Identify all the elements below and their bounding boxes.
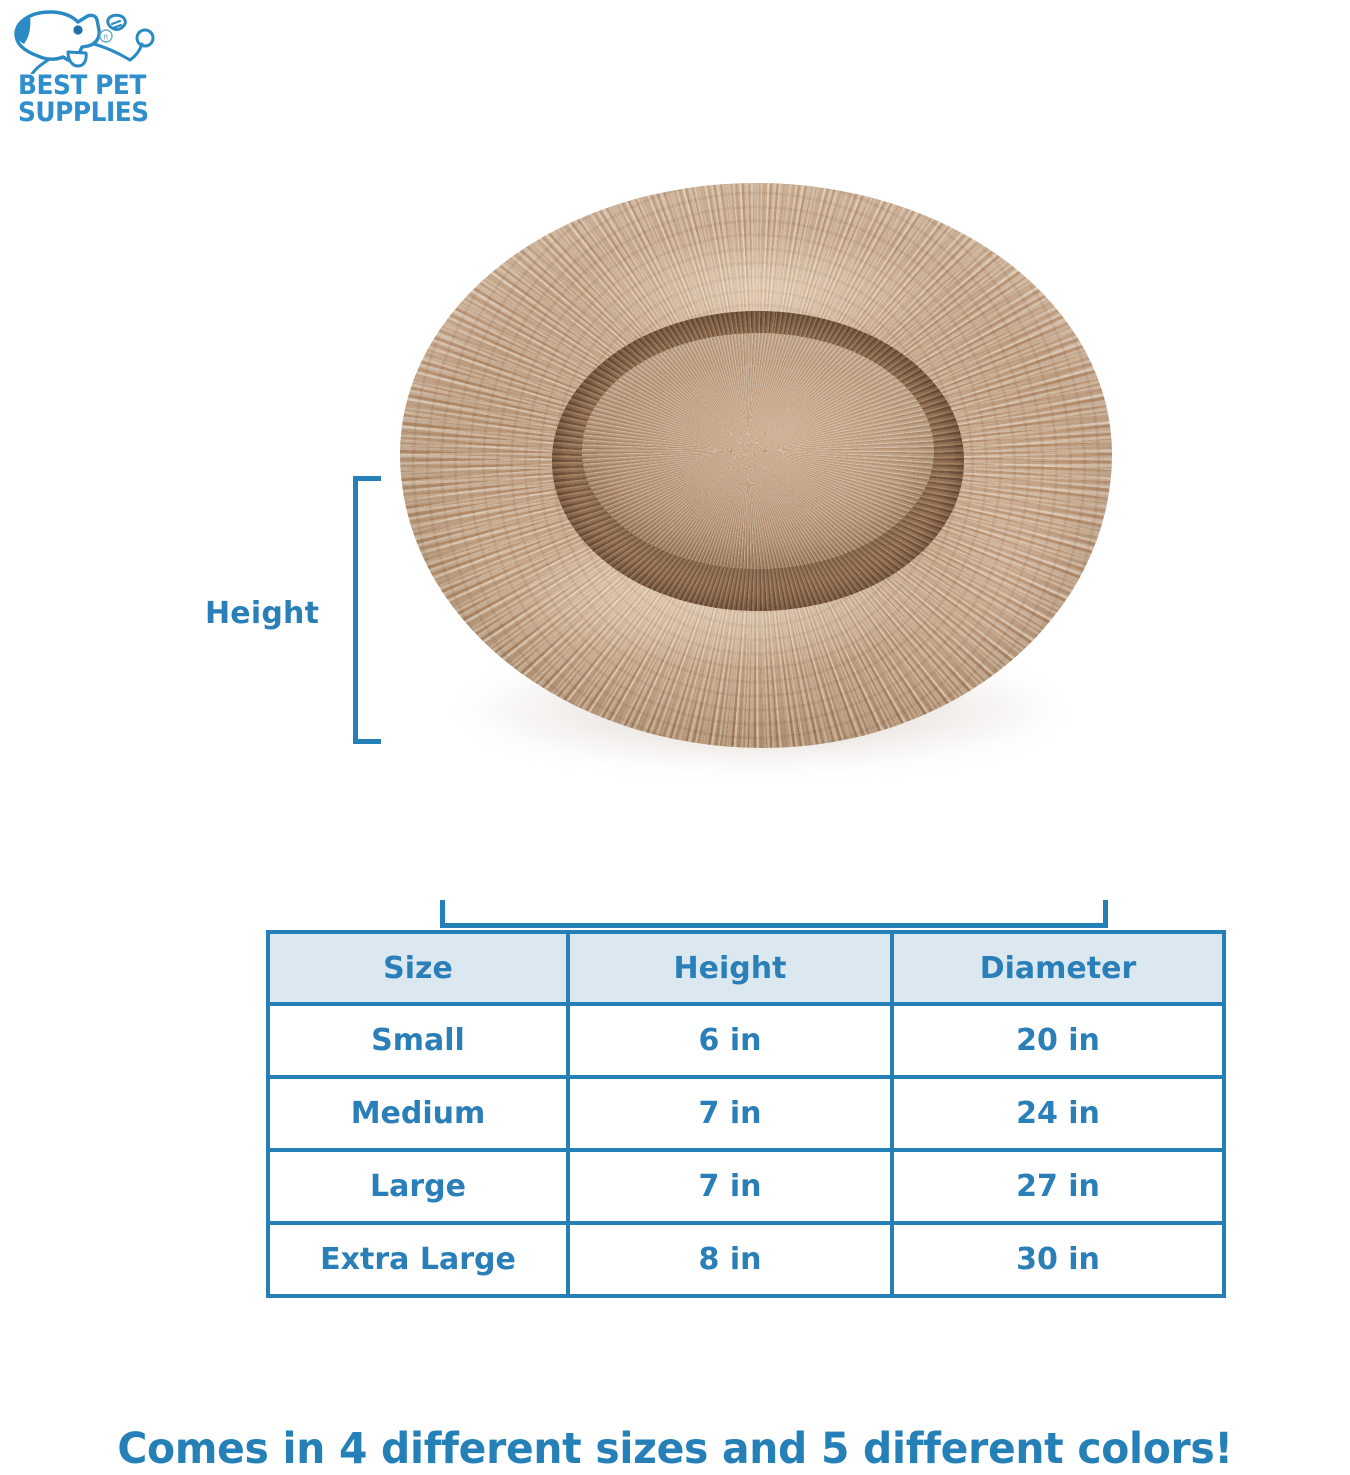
table-row: Large 7 in 27 in bbox=[268, 1150, 1224, 1223]
bed-outer-rim bbox=[400, 183, 1112, 748]
column-header-height: Height bbox=[568, 932, 892, 1004]
product-figure: Height Diameter bbox=[0, 150, 1350, 800]
cell-diameter: 20 in bbox=[892, 1004, 1224, 1077]
cell-size: Medium bbox=[268, 1077, 568, 1150]
diameter-bracket-line bbox=[440, 923, 1108, 928]
height-measure-bracket bbox=[353, 476, 383, 744]
pet-bed-photo bbox=[392, 175, 1120, 765]
cushion-fur-texture bbox=[582, 333, 934, 569]
cell-size: Extra Large bbox=[268, 1223, 568, 1296]
cell-height: 7 in bbox=[568, 1150, 892, 1223]
brand-name-line1: BEST PET bbox=[18, 72, 146, 99]
table-header-row: Size Height Diameter bbox=[268, 932, 1224, 1004]
bed-inner-cushion bbox=[582, 333, 934, 569]
cell-diameter: 30 in bbox=[892, 1223, 1224, 1296]
cell-height: 8 in bbox=[568, 1223, 892, 1296]
cell-diameter: 24 in bbox=[892, 1077, 1224, 1150]
bed-inner-well bbox=[552, 311, 964, 611]
brand-logo: R BEST PET SUPPLIES bbox=[8, 4, 168, 132]
registered-mark: R bbox=[104, 34, 109, 42]
height-bracket-cap-bottom bbox=[353, 739, 381, 744]
height-bracket-cap-top bbox=[353, 476, 381, 481]
dog-outline-icon: R bbox=[8, 4, 168, 74]
cell-height: 6 in bbox=[568, 1004, 892, 1077]
table-row: Small 6 in 20 in bbox=[268, 1004, 1224, 1077]
cell-diameter: 27 in bbox=[892, 1150, 1224, 1223]
footer-tagline-text: Comes in 4 different sizes and 5 differe… bbox=[117, 1424, 1232, 1474]
height-bracket-line bbox=[353, 476, 358, 744]
column-header-diameter: Diameter bbox=[892, 932, 1224, 1004]
table-row: Extra Large 8 in 30 in bbox=[268, 1223, 1224, 1296]
footer-tagline: Comes in 4 different sizes and 5 differe… bbox=[0, 1424, 1350, 1474]
diameter-bracket-tick-left bbox=[440, 900, 445, 928]
diameter-measure-bracket bbox=[440, 898, 1108, 928]
table-row: Medium 7 in 24 in bbox=[268, 1077, 1224, 1150]
cell-height: 7 in bbox=[568, 1077, 892, 1150]
brand-name-line2: SUPPLIES bbox=[18, 99, 149, 126]
cell-size: Large bbox=[268, 1150, 568, 1223]
size-chart-table: Size Height Diameter Small 6 in 20 in Me… bbox=[266, 930, 1226, 1298]
height-callout-label: Height bbox=[205, 596, 319, 631]
column-header-size: Size bbox=[268, 932, 568, 1004]
diameter-bracket-tick-right bbox=[1103, 900, 1108, 928]
cell-size: Small bbox=[268, 1004, 568, 1077]
